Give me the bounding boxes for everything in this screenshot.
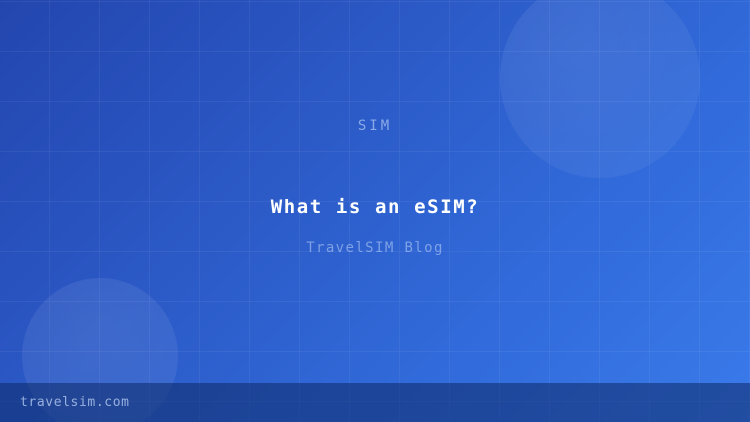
page-title: What is an eSIM? (0, 196, 750, 218)
esim-blog-banner: SIM What is an eSIM? TravelSIM Blog trav… (0, 0, 750, 422)
footer-bar: travelsim.com (0, 383, 750, 422)
banner-content: SIM What is an eSIM? TravelSIM Blog (0, 0, 750, 422)
footer-domain-label: travelsim.com (20, 395, 130, 410)
banner-subtitle: TravelSIM Blog (0, 240, 750, 256)
eyebrow-label: SIM (0, 118, 750, 134)
